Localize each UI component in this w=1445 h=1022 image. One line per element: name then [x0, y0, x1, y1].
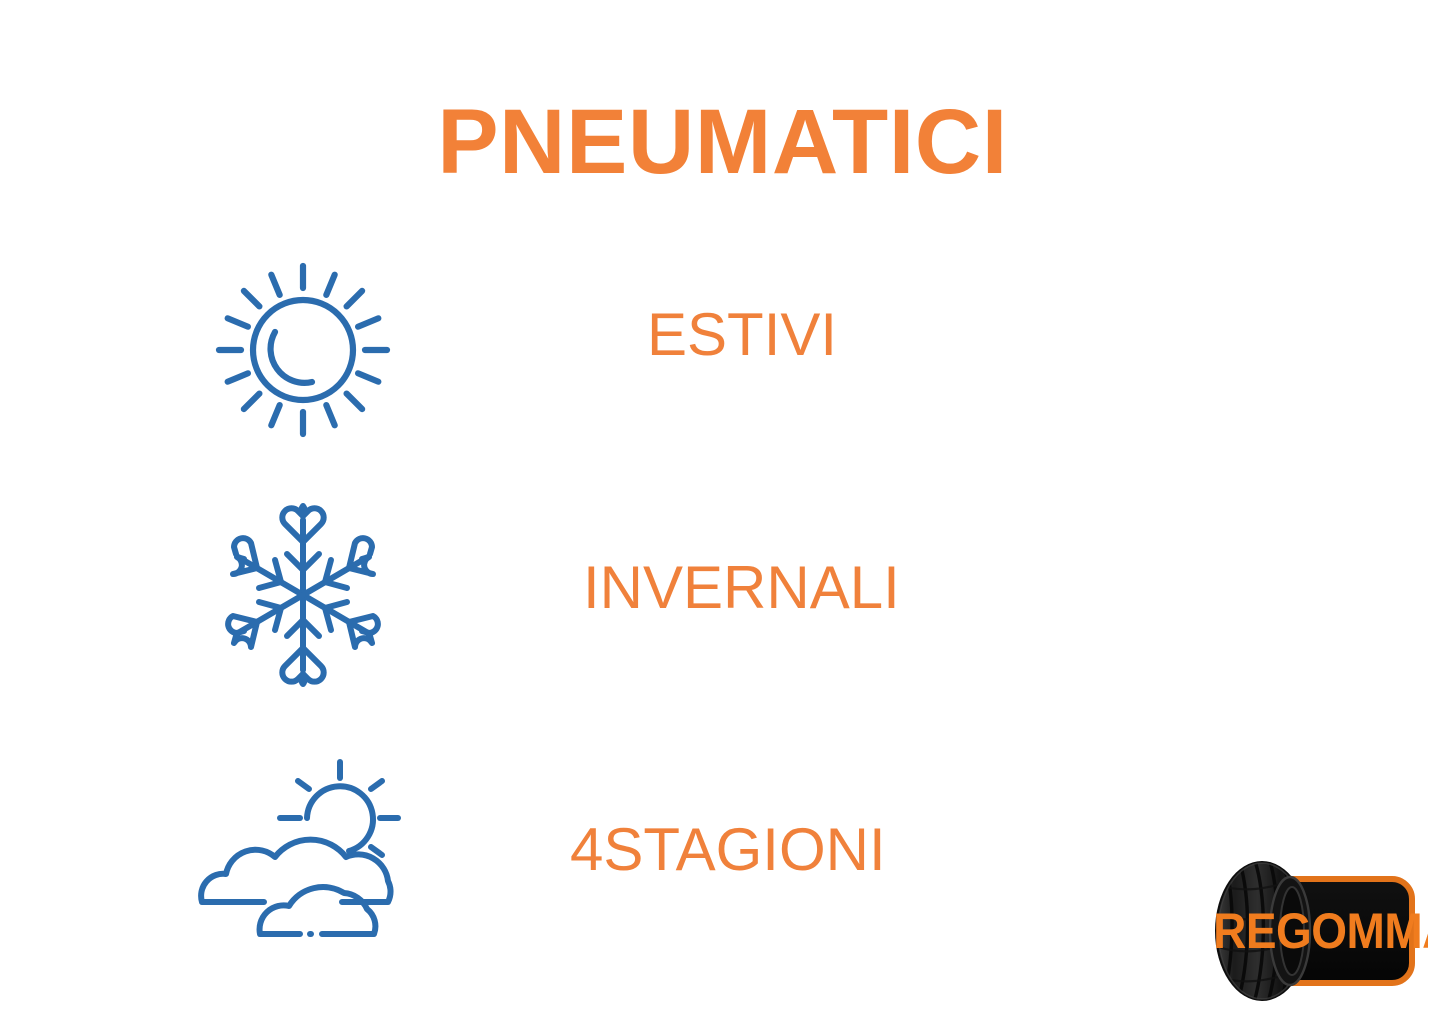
sun-icon [185, 250, 420, 450]
season-row-estivi: ESTIVI [0, 250, 1445, 450]
brand-wordmark: REGOMMA [1213, 904, 1428, 959]
season-label-estivi: ESTIVI [647, 305, 837, 365]
sun-behind-clouds-icon [178, 750, 428, 950]
season-label-4stagioni: 4STAGIONI [570, 820, 886, 880]
season-row-invernali: INVERNALI [0, 495, 1445, 695]
snowflake-icon [185, 495, 420, 695]
season-label-invernali: INVERNALI [583, 558, 900, 618]
regomma-logo[interactable]: REGOMMA [1196, 855, 1428, 1007]
page-title: PNEUMATICI [0, 96, 1445, 188]
